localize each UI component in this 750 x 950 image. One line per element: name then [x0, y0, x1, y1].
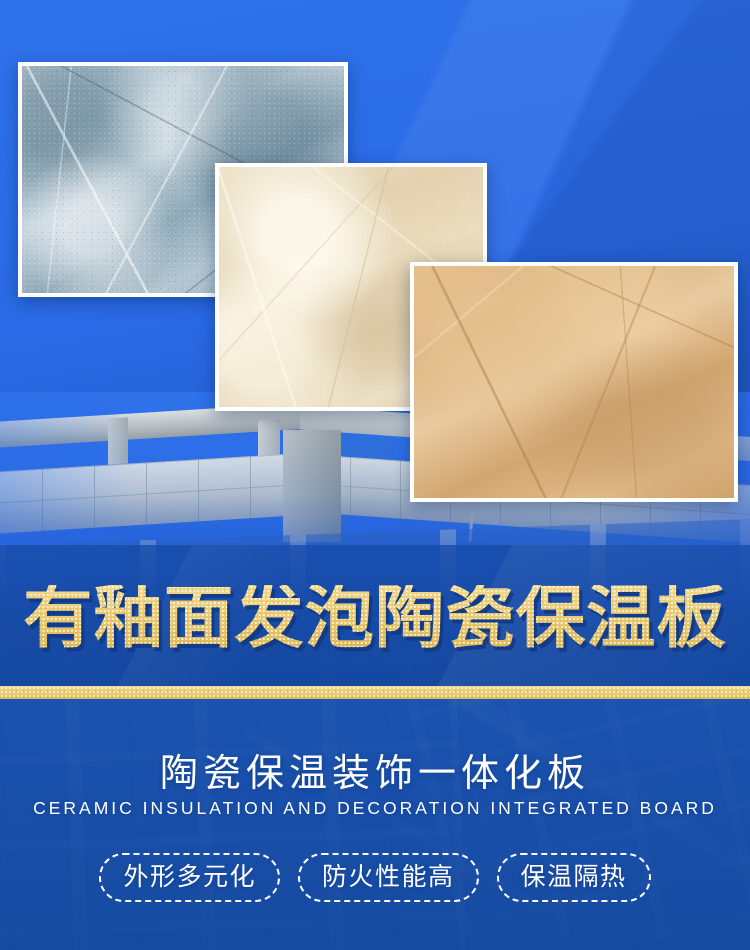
gold-divider-bar: [0, 686, 750, 699]
feature-pill-group: 外形多元化 防火性能高 保温隔热: [0, 853, 750, 902]
amber-veining: [414, 266, 734, 498]
sample-tile-amber[interactable]: [410, 262, 738, 502]
feature-pill-2[interactable]: 防火性能高: [298, 853, 479, 902]
feature-pill-1[interactable]: 外形多元化: [99, 853, 280, 902]
feature-pill-3[interactable]: 保温隔热: [497, 853, 651, 902]
subtitle-chinese: 陶瓷保温装饰一体化板: [0, 742, 750, 797]
subtitle-english: CERAMIC INSULATION AND DECORATION INTEGR…: [0, 798, 750, 819]
product-promo-banner: 有釉面发泡陶瓷保温板 陶瓷保温装饰一体化板 CERAMIC INSULATION…: [0, 0, 750, 950]
headline-title: 有釉面发泡陶瓷保温板: [0, 585, 750, 653]
